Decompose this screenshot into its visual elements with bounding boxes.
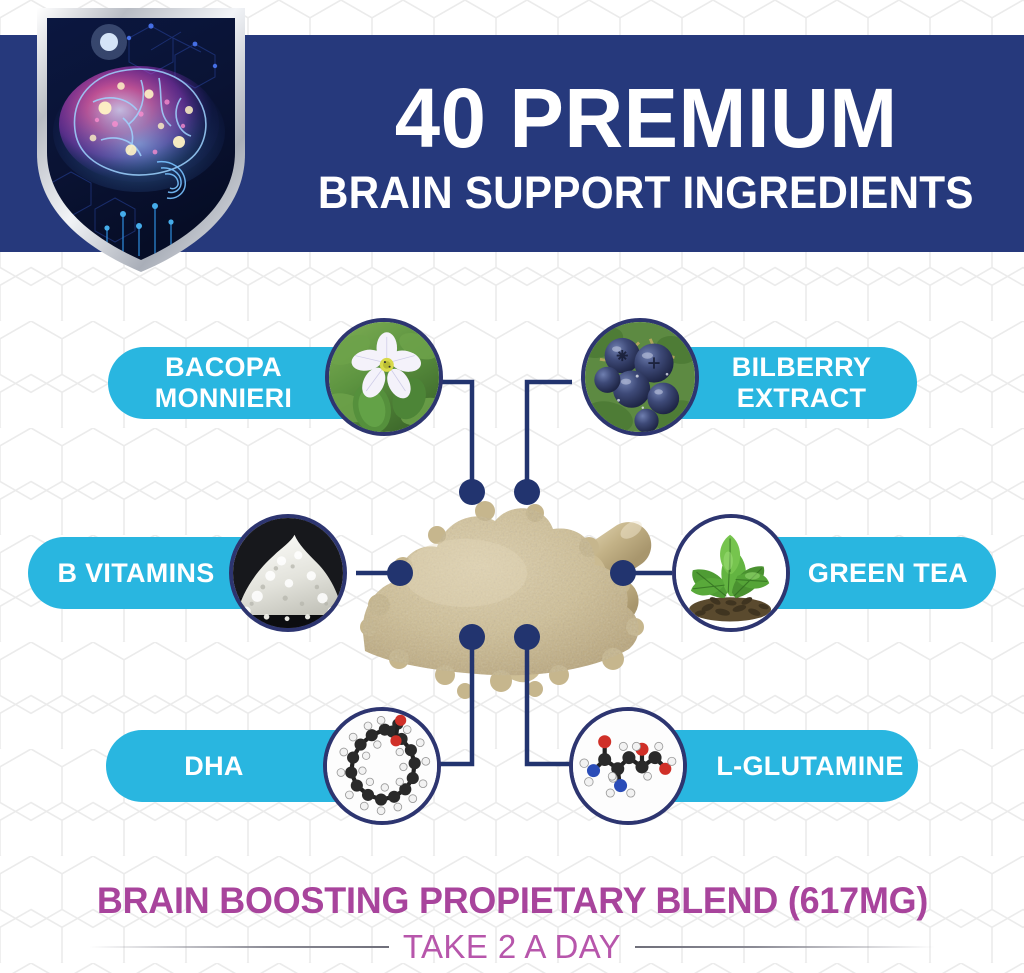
connector-node [459,624,485,650]
divider-right [635,946,935,948]
bilberry-berries-photo-icon [581,318,699,436]
dosage-text: TAKE 2 A DAY [403,928,621,966]
dosage-row: TAKE 2 A DAY [32,928,992,966]
connector-node [514,479,540,505]
dha-molecule-model-icon [323,707,441,825]
connector-node [610,560,636,586]
connector-nodes [387,479,636,650]
green-tea-leaves-photo-icon [672,514,790,632]
connector-node [459,479,485,505]
bacopa-flower-photo-icon [325,318,443,436]
page-title: 40 PREMIUM [395,77,898,159]
blend-title: BRAIN BOOSTING PROPIETARY BLEND (617MG) [96,880,927,922]
divider-left [89,946,389,948]
white-powder-mound-photo-icon [229,514,347,632]
page-subtitle: BRAIN SUPPORT INGREDIENTS [318,169,974,216]
footer: BRAIN BOOSTING PROPIETARY BLEND (617MG) … [0,880,1024,973]
l-glutamine-molecule-model-icon [569,707,687,825]
header-title-group: 40 PREMIUM BRAIN SUPPORT INGREDIENTS [268,35,1024,252]
connector-node [514,624,540,650]
brain-shield-icon [31,2,251,272]
connector-node [387,560,413,586]
